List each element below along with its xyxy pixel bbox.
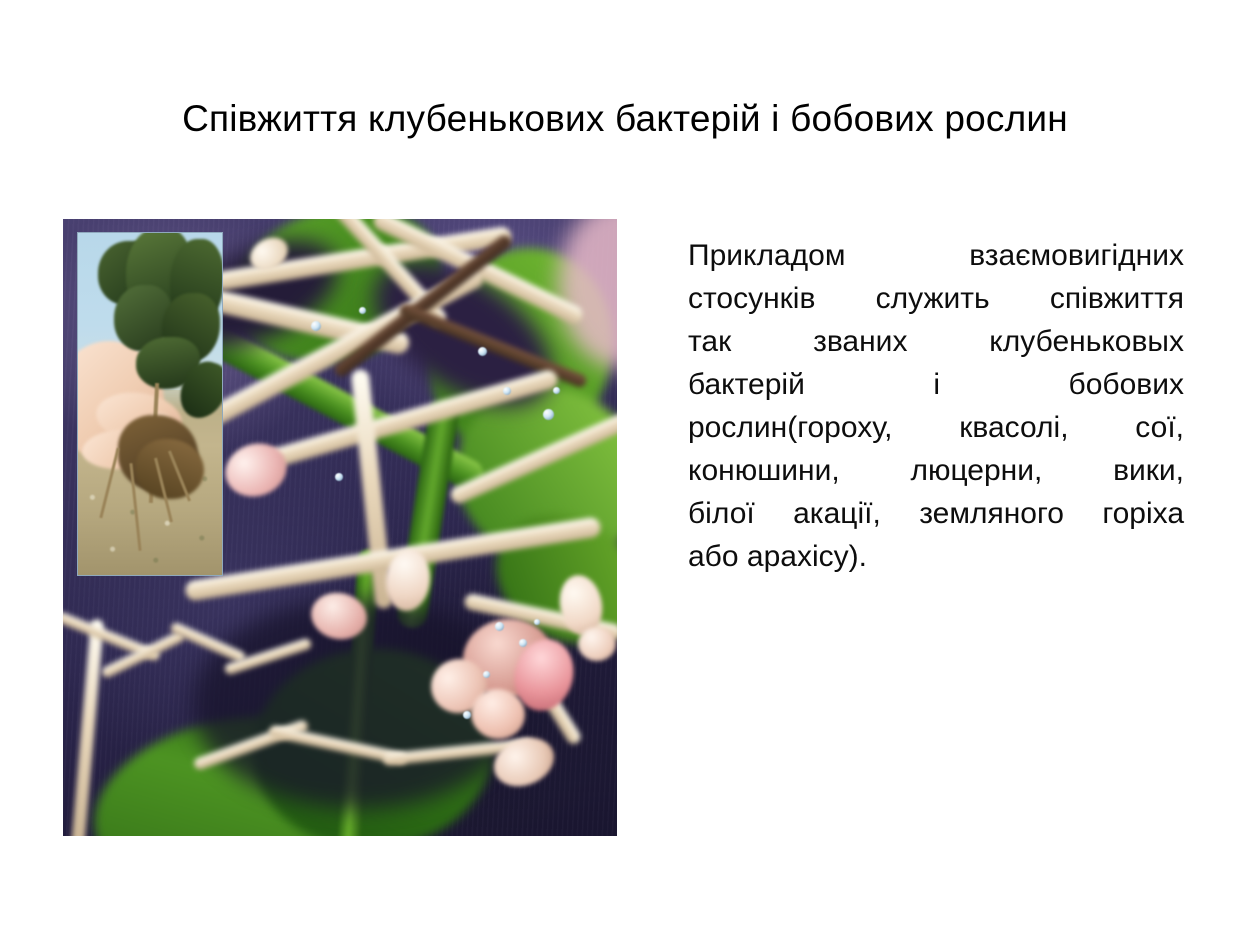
body-line: стосунків служить співжиття: [688, 277, 1184, 320]
droplet-9: [483, 671, 490, 678]
droplet-3: [478, 347, 487, 356]
droplet-7: [495, 622, 504, 631]
body-line: бактерій і бобових: [688, 363, 1184, 406]
inset-root-mass-2: [136, 439, 204, 499]
body-line: білої акації, земляного горіха: [688, 492, 1184, 535]
body-line: конюшини, люцерни, вики,: [688, 449, 1184, 492]
droplet-2: [359, 307, 366, 314]
nodule-upper-right-small: [578, 627, 616, 661]
droplet-10: [463, 711, 471, 719]
body-line: рослин(гороху, квасолі, сої,: [688, 406, 1184, 449]
page-title: Співжиття клубенькових бактерій і бобови…: [0, 96, 1250, 142]
droplet-8: [519, 639, 527, 647]
droplet-12: [534, 619, 540, 625]
body-line: або арахісу).: [688, 535, 1184, 578]
body-line: так званих клубеньковых: [688, 320, 1184, 363]
droplet-1: [311, 321, 321, 331]
droplet-4: [503, 387, 511, 395]
droplet-11: [553, 387, 560, 394]
droplet-6: [335, 473, 343, 481]
body-line: Прикладом взаємовигідних: [688, 234, 1184, 277]
peanut-plant-inset-photograph: [77, 232, 223, 576]
droplet-5: [543, 409, 554, 420]
slide-canvas: Співжиття клубенькових бактерій і бобови…: [0, 0, 1250, 938]
body-paragraph: Прикладом взаємовигідних стосунків служи…: [688, 234, 1184, 578]
